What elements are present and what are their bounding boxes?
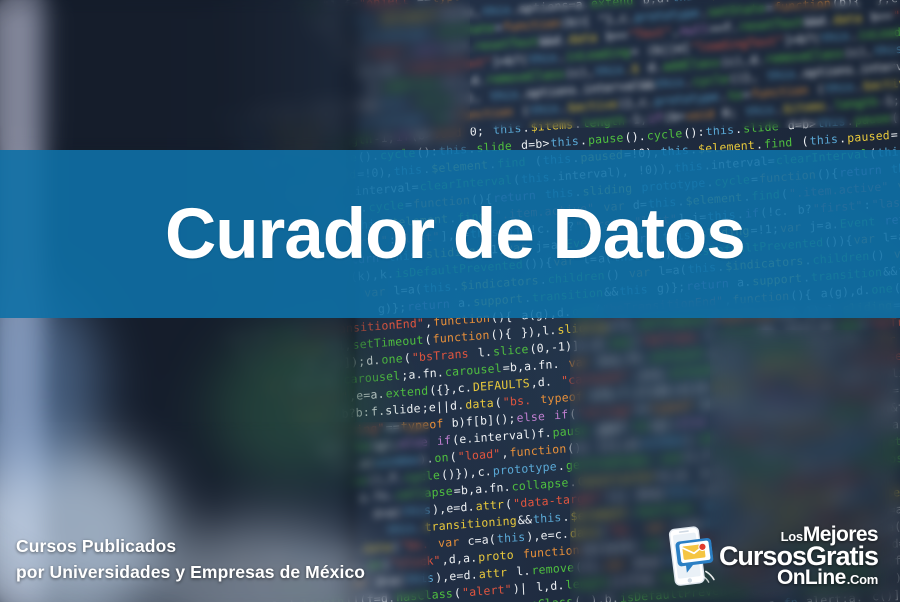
caption-line-2: por Universidades y Empresas de México (16, 559, 365, 586)
logo-com: .Com (847, 574, 878, 586)
caption-line-1: Cursos Publicados (16, 533, 365, 560)
logo-wordmark: Los Mejores CursosGratis OnLine .Com (719, 525, 878, 588)
title-banner: Curador de Datos (0, 150, 900, 318)
phone-message-envelope-icon (667, 523, 716, 590)
logo-online: OnLine (777, 568, 846, 588)
page-title: Curador de Datos (0, 199, 745, 270)
logo-line-3: OnLine .Com (777, 568, 878, 588)
promo-card: var c=a(this),e=c.data("bs. var c=a(this… (0, 0, 900, 602)
site-logo[interactable]: Los Mejores CursosGratis OnLine .Com (671, 525, 878, 588)
caption-block: Cursos Publicados por Universidades y Em… (16, 533, 365, 586)
